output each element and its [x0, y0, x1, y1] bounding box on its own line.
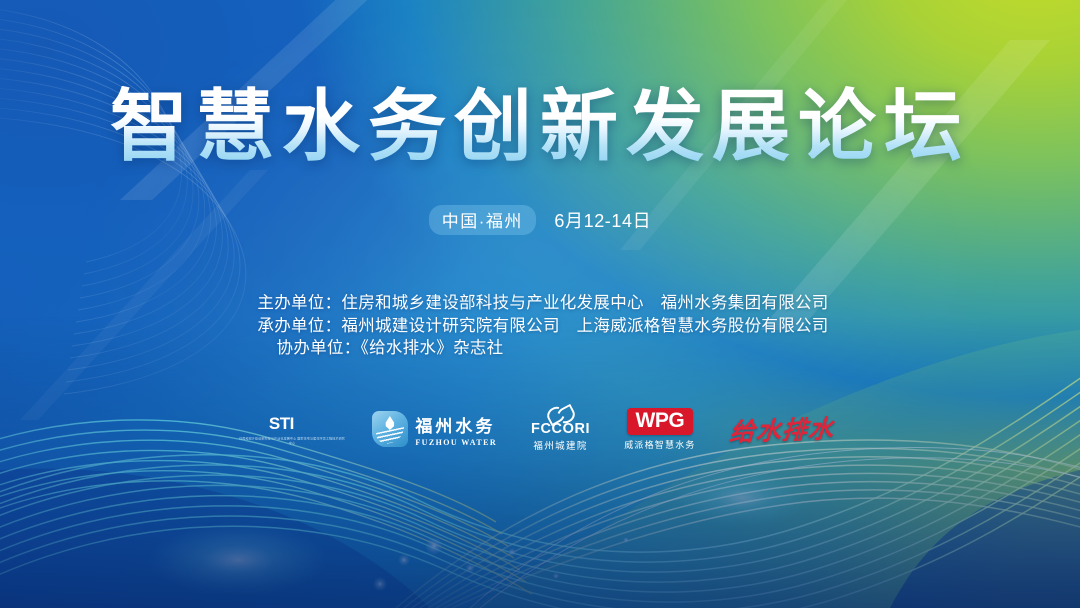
droplet-shape-icon — [384, 416, 395, 430]
organizer-line-co-organizer: 协办单位：《给水排水》杂志社 — [0, 337, 1080, 360]
wpg-caption: 威派格智慧水务 — [624, 438, 695, 451]
fccori-caption: 福州城建院 — [533, 438, 588, 452]
stid-mark-icon: STI — [269, 414, 316, 435]
water-droplet-icon — [372, 411, 408, 447]
fuzhou-water-cn: 福州水务 — [415, 412, 495, 437]
stid-caption: 住房和城乡建设部科技与产业化发展中心 国家住宅与居住环境工程技术研究中心 — [238, 437, 347, 445]
stid-d-glyph-icon — [295, 414, 316, 435]
wave-lines-icon — [376, 427, 404, 446]
fccori-leaf-icon — [547, 407, 575, 420]
wpg-badge: WPG — [627, 408, 694, 435]
organizer-line-host: 主办单位：住房和城乡建设部科技与产业化发展中心 福州水务集团有限公司 — [0, 292, 1080, 315]
logo-fccori: FCCORI 福州城建院 — [531, 400, 590, 458]
stid-wordmark: STI — [269, 414, 294, 434]
organizer-block: 主办单位：住房和城乡建设部科技与产业化发展中心 福州水务集团有限公司 承办单位：… — [0, 292, 1080, 360]
logo-water-supply-drainage: 给水排水 — [730, 400, 834, 458]
page-title: 智慧水务创新发展论坛 — [0, 86, 1080, 167]
poster-canvas: 智慧水务创新发展论坛 中国·福州 6月12-14日 主办单位：住房和城乡建设部科… — [0, 0, 1080, 608]
event-meta: 中国·福州 6月12-14日 — [0, 205, 1080, 235]
logo-wpg: WPG 威派格智慧水务 — [624, 400, 695, 458]
sponsor-logo-row: STI 住房和城乡建设部科技与产业化发展中心 国家住宅与居住环境工程技术研究中心… — [0, 398, 1080, 460]
event-location: 中国·福州 — [429, 205, 536, 235]
fuzhou-water-en: FUZHOU WATER — [415, 438, 497, 447]
organizer-line-organizer: 承办单位：福州城建设计研究院有限公司 上海威派格智慧水务股份有限公司 — [0, 315, 1080, 338]
fuzhou-water-text: 福州水务 FUZHOU WATER — [415, 412, 497, 447]
event-dates: 6月12-14日 — [554, 207, 651, 233]
logo-stid: STI 住房和城乡建设部科技与产业化发展中心 国家住宅与居住环境工程技术研究中心 — [246, 400, 338, 458]
logo-fuzhou-water: 福州水务 FUZHOU WATER — [372, 400, 497, 458]
wpg-wordmark: WPG — [636, 409, 685, 432]
fccori-wordmark: FCCORI — [531, 421, 590, 437]
water-supply-drainage-wordmark: 给水排水 — [728, 409, 835, 449]
poster-content: 智慧水务创新发展论坛 中国·福州 6月12-14日 主办单位：住房和城乡建设部科… — [0, 0, 1080, 608]
